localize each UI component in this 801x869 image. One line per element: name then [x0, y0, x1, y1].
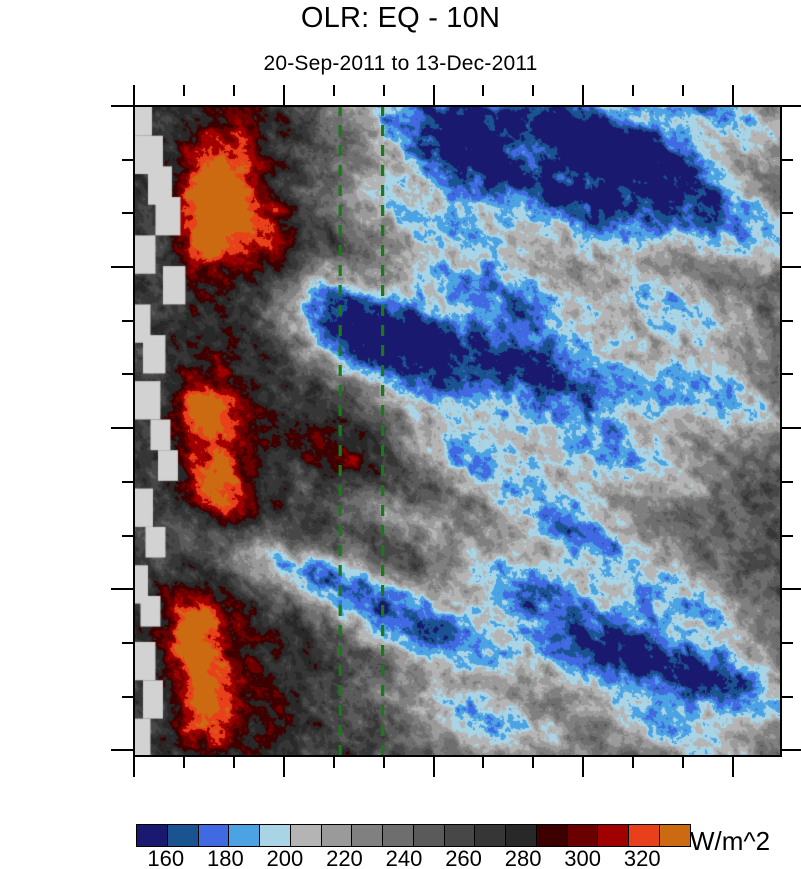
axis-tick: [782, 266, 801, 268]
axis-tick: [122, 212, 133, 214]
axis-tick: [782, 427, 801, 429]
axis-tick: [122, 642, 133, 644]
axis-tick: [732, 757, 734, 777]
axis-tick: [532, 85, 534, 96]
axis-tick: [233, 85, 235, 96]
colorbar-tick-label: 160: [147, 846, 184, 869]
page-title: OLR: EQ - 10N: [0, 2, 801, 35]
axis-tick: [482, 757, 484, 768]
axis-tick: [433, 757, 435, 777]
axis-tick: [111, 588, 133, 590]
axis-tick: [732, 85, 734, 105]
colorbar-swatch[interactable]: [198, 825, 229, 846]
axis-tick: [782, 159, 793, 161]
axis-tick: [333, 85, 335, 96]
colorbar-swatch[interactable]: [167, 825, 198, 846]
subtitle: 20-Sep-2011 to 13-Dec-2011: [0, 52, 801, 76]
axis-tick: [333, 757, 335, 768]
colorbar-swatch[interactable]: [597, 825, 628, 846]
colorbar-swatch[interactable]: [567, 825, 598, 846]
axis-tick: [183, 757, 185, 768]
axis-tick: [682, 757, 684, 768]
plot-area: 30E60E90E120E150E20-Sep11-Oct1-Nov22-Nov…: [133, 105, 782, 757]
axis-tick: [122, 696, 133, 698]
axis-tick: [111, 105, 133, 107]
colorbar-swatch[interactable]: [505, 825, 536, 846]
axis-tick: [111, 266, 133, 268]
axis-tick: [782, 696, 793, 698]
colorbar-swatch[interactable]: [290, 825, 321, 846]
colorbar-swatch[interactable]: [474, 825, 505, 846]
axis-tick: [122, 481, 133, 483]
colorbar-swatch[interactable]: [137, 825, 167, 846]
colorbar-tick-label: 320: [624, 846, 661, 869]
colorbar-swatch[interactable]: [413, 825, 444, 846]
axis-tick: [122, 535, 133, 537]
axis-tick: [122, 373, 133, 375]
axis-tick: [632, 85, 634, 96]
colorbar[interactable]: [136, 824, 691, 847]
olr-contour-field: [133, 105, 782, 757]
axis-tick: [782, 212, 793, 214]
axis-tick: [133, 85, 135, 105]
colorbar-swatch[interactable]: [321, 825, 352, 846]
colorbar-swatch[interactable]: [659, 825, 690, 846]
axis-tick: [782, 481, 793, 483]
axis-tick: [782, 749, 801, 751]
colorbar-swatch[interactable]: [536, 825, 567, 846]
colorbar-tick-label: 260: [445, 846, 482, 869]
axis-tick: [782, 373, 793, 375]
axis-tick: [233, 757, 235, 768]
axis-tick: [283, 85, 285, 105]
axis-tick: [582, 85, 584, 105]
axis-tick: [782, 320, 793, 322]
axis-tick: [183, 85, 185, 96]
axis-tick: [433, 85, 435, 105]
axis-tick: [782, 588, 801, 590]
colorbar-tick-label: 220: [326, 846, 363, 869]
axis-tick: [383, 85, 385, 96]
axis-tick: [111, 749, 133, 751]
axis-tick: [682, 85, 684, 96]
axis-tick: [782, 535, 793, 537]
axis-tick: [782, 105, 801, 107]
axis-tick: [283, 757, 285, 777]
colorbar-swatch[interactable]: [228, 825, 259, 846]
axis-tick: [122, 159, 133, 161]
colorbar-unit-label: W/m^2: [690, 826, 770, 857]
colorbar-swatch[interactable]: [259, 825, 290, 846]
colorbar-tick-label: 280: [505, 846, 542, 869]
axis-tick: [532, 757, 534, 768]
axis-tick: [133, 757, 135, 777]
colorbar-swatch[interactable]: [382, 825, 413, 846]
colorbar-swatch[interactable]: [628, 825, 659, 846]
colorbar-tick-label: 240: [386, 846, 423, 869]
axis-tick: [632, 757, 634, 768]
colorbar-swatch[interactable]: [351, 825, 382, 846]
colorbar-tick-label: 180: [207, 846, 244, 869]
hovmoller-figure: OLR: EQ - 10N 20-Sep-2011 to 13-Dec-2011…: [0, 0, 801, 869]
colorbar-swatch[interactable]: [444, 825, 475, 846]
colorbar-tick-label: 300: [564, 846, 601, 869]
axis-tick: [122, 320, 133, 322]
axis-tick: [582, 757, 584, 777]
colorbar-tick-label: 200: [267, 846, 304, 869]
axis-tick: [782, 642, 793, 644]
axis-tick: [111, 427, 133, 429]
axis-tick: [482, 85, 484, 96]
axis-tick: [383, 757, 385, 768]
